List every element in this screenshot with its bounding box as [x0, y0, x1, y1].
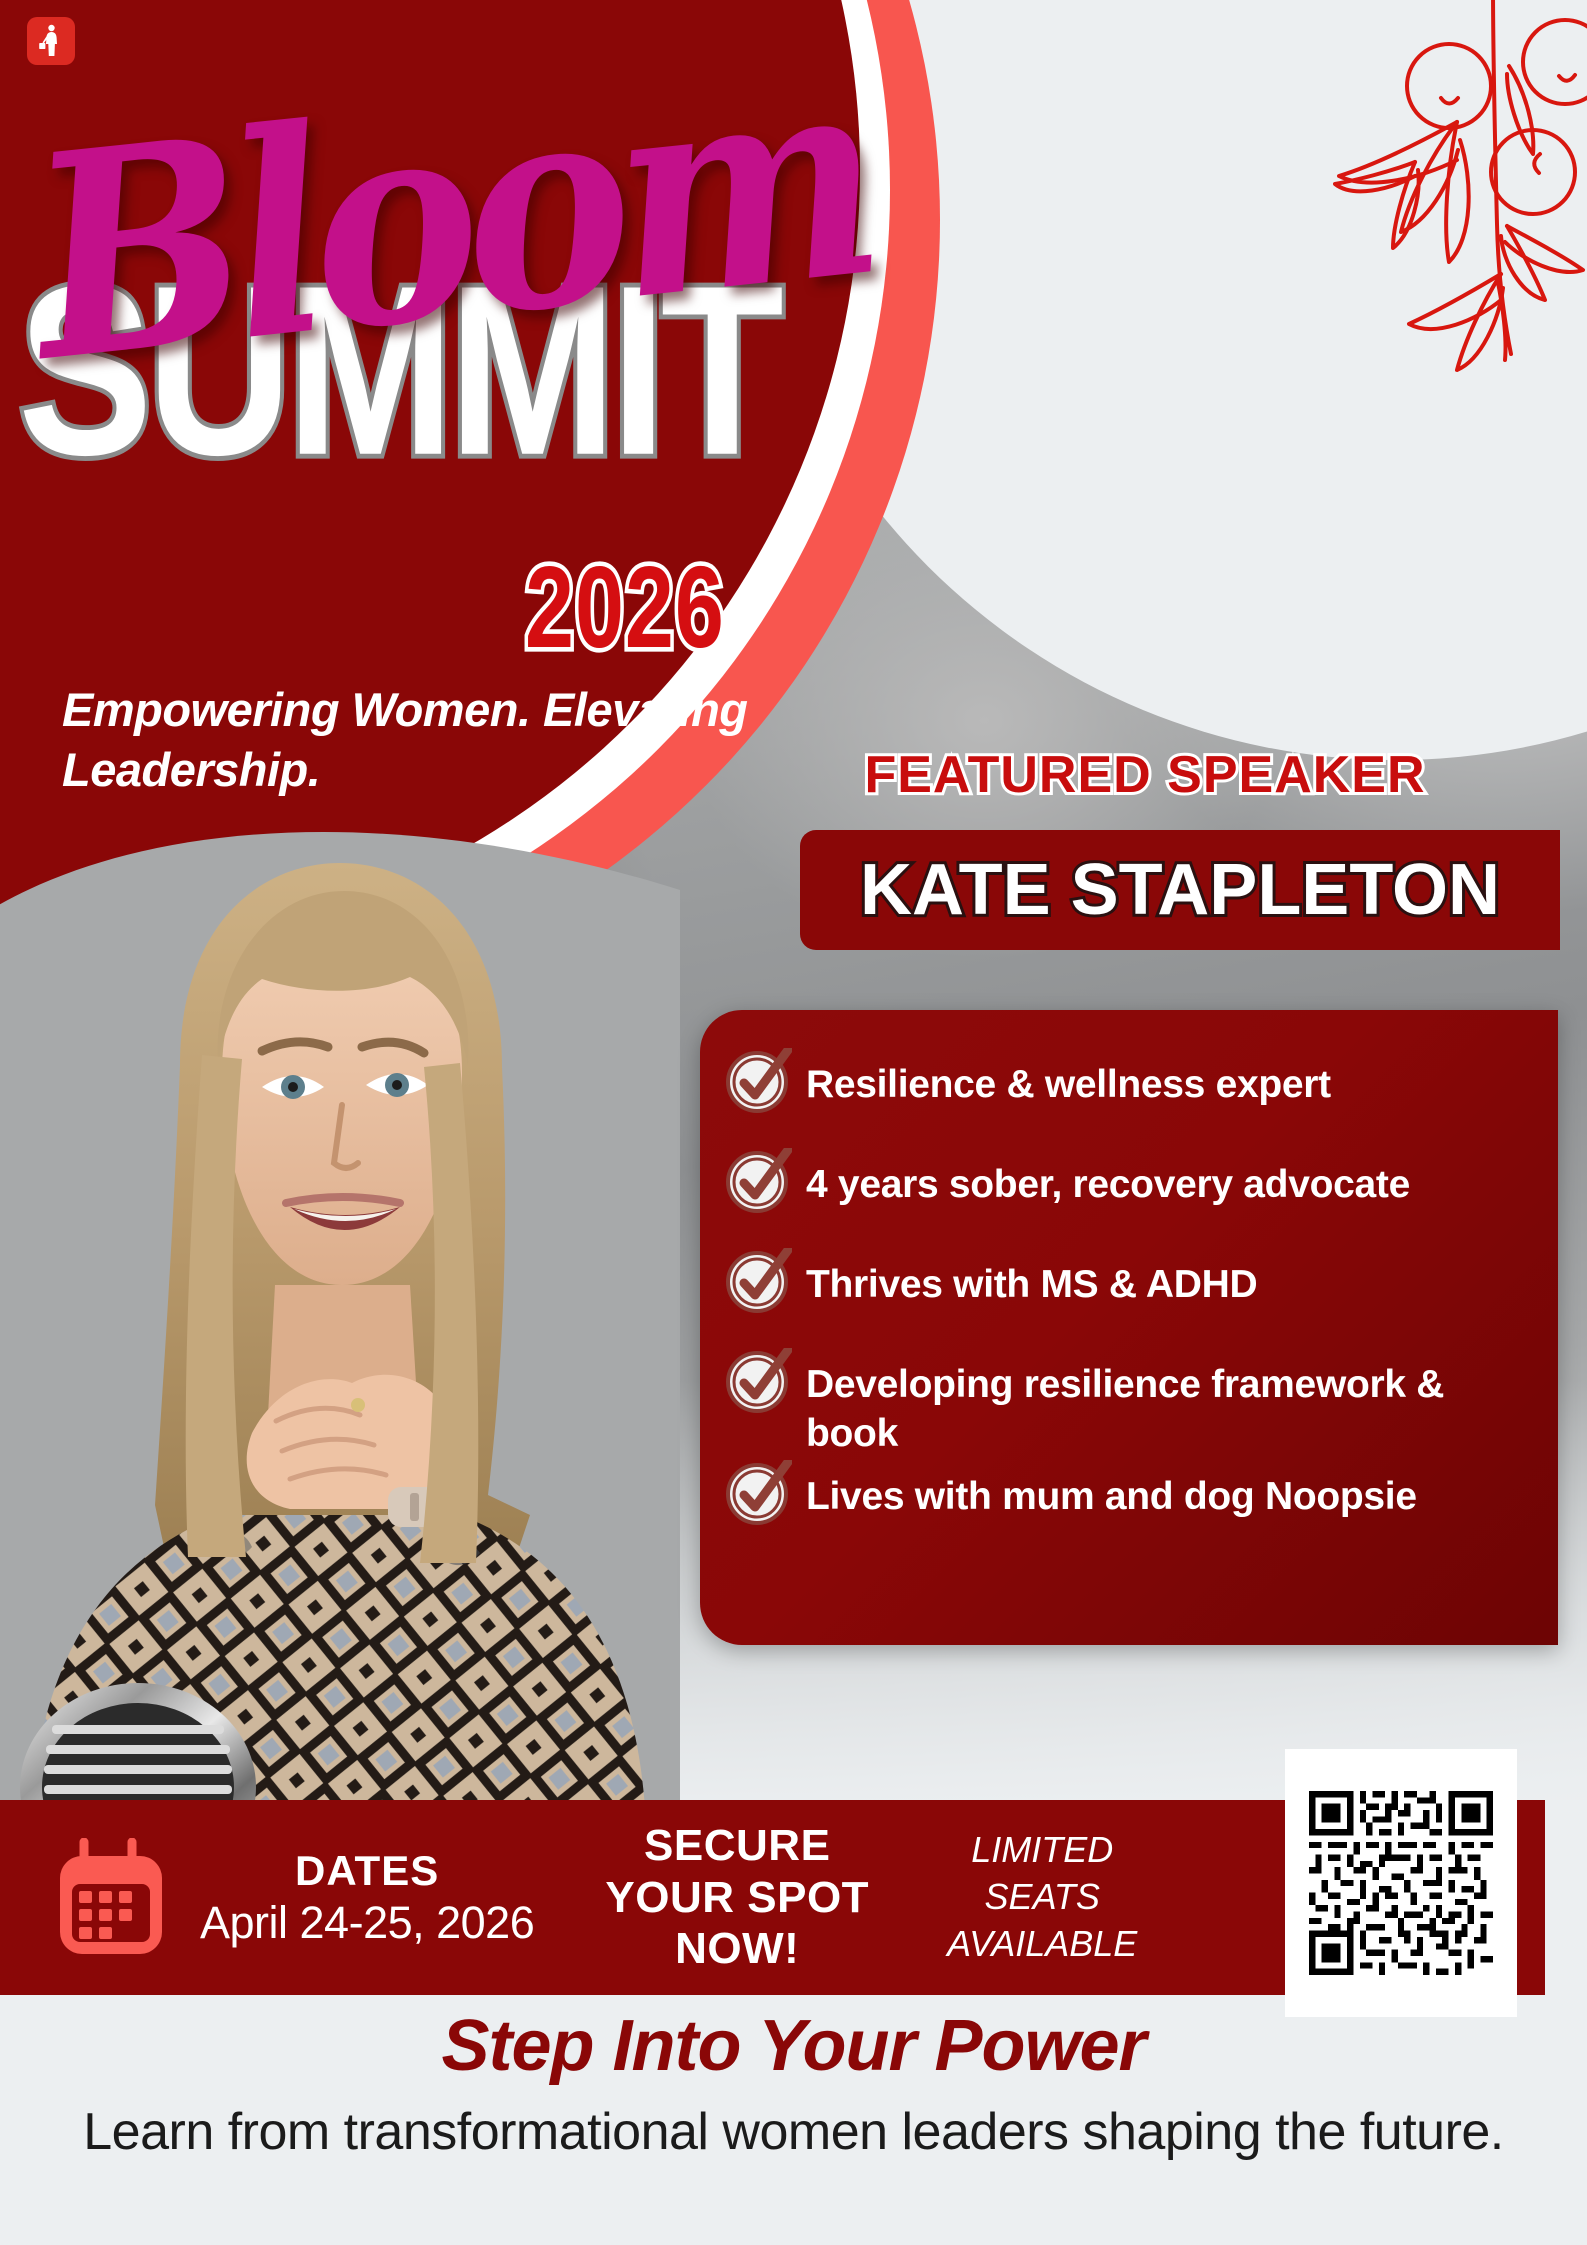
speaker-portrait	[0, 815, 680, 1825]
brand-logo-badge[interactable]	[27, 17, 75, 65]
check-circle-icon	[726, 1048, 792, 1114]
check-circle-icon	[726, 1348, 792, 1414]
featured-speaker-kicker: FEATURED SPEAKER	[745, 745, 1545, 805]
limited-seats-note: LIMITED SEATS AVAILABLE	[922, 1827, 1162, 1967]
event-tagline: Empowering Women. Elevating Leadership.	[62, 680, 822, 800]
dates-label: DATES	[200, 1847, 534, 1895]
qr-code-card[interactable]	[1285, 1749, 1517, 2017]
list-item-label: 4 years sober, recovery advocate	[806, 1154, 1410, 1209]
check-circle-icon	[726, 1148, 792, 1214]
secure-line-2: YOUR SPOT	[582, 1872, 892, 1924]
list-item: Resilience & wellness expert	[726, 1054, 1538, 1114]
list-item-label: Lives with mum and dog Noopsie	[806, 1466, 1417, 1521]
title-lockup: SUMMIT Bloom 2026	[0, 200, 820, 660]
secure-your-spot-callout[interactable]: SECURE YOUR SPOT NOW!	[582, 1820, 892, 1976]
dates-block: DATES April 24-25, 2026	[200, 1847, 534, 1949]
limited-line-1: LIMITED	[922, 1827, 1162, 1874]
secure-line-1: SECURE	[582, 1820, 892, 1872]
qr-code[interactable]	[1309, 1791, 1493, 1975]
list-item: Thrives with MS & ADHD	[726, 1254, 1538, 1314]
list-item-label: Resilience & wellness expert	[806, 1054, 1331, 1109]
dates-value: April 24-25, 2026	[200, 1897, 534, 1949]
bloom-script-wordmark: Bloom	[20, 34, 879, 400]
check-circle-icon	[726, 1460, 792, 1526]
footer-headline: Step Into Your Power	[0, 2005, 1587, 2087]
list-item-label: Thrives with MS & ADHD	[806, 1254, 1257, 1309]
limited-line-3: AVAILABLE	[922, 1921, 1162, 1968]
limited-line-2: SEATS	[922, 1874, 1162, 1921]
year-badge: 2026	[525, 540, 725, 675]
speaker-name: KATE STAPLETON	[860, 849, 1500, 931]
speaker-highlights-card: Resilience & wellness expert 4 years sob…	[700, 1010, 1558, 1645]
list-item: 4 years sober, recovery advocate	[726, 1154, 1538, 1214]
speaker-name-plate: KATE STAPLETON	[800, 830, 1560, 950]
list-item: Developing resilience framework & book	[726, 1354, 1538, 1458]
list-item: Lives with mum and dog Noopsie	[726, 1466, 1538, 1526]
footer-block: Step Into Your Power Learn from transfor…	[0, 2005, 1587, 2167]
check-circle-icon	[726, 1248, 792, 1314]
footer-subline: Learn from transformational women leader…	[0, 2097, 1587, 2167]
secure-line-3: NOW!	[582, 1923, 892, 1975]
calendar-icon	[52, 1838, 170, 1958]
poster-canvas: SUMMIT Bloom 2026 Empowering Women. Elev…	[0, 0, 1587, 2245]
woman-with-briefcase-icon	[36, 24, 66, 58]
list-item-label: Developing resilience framework & book	[806, 1354, 1538, 1458]
